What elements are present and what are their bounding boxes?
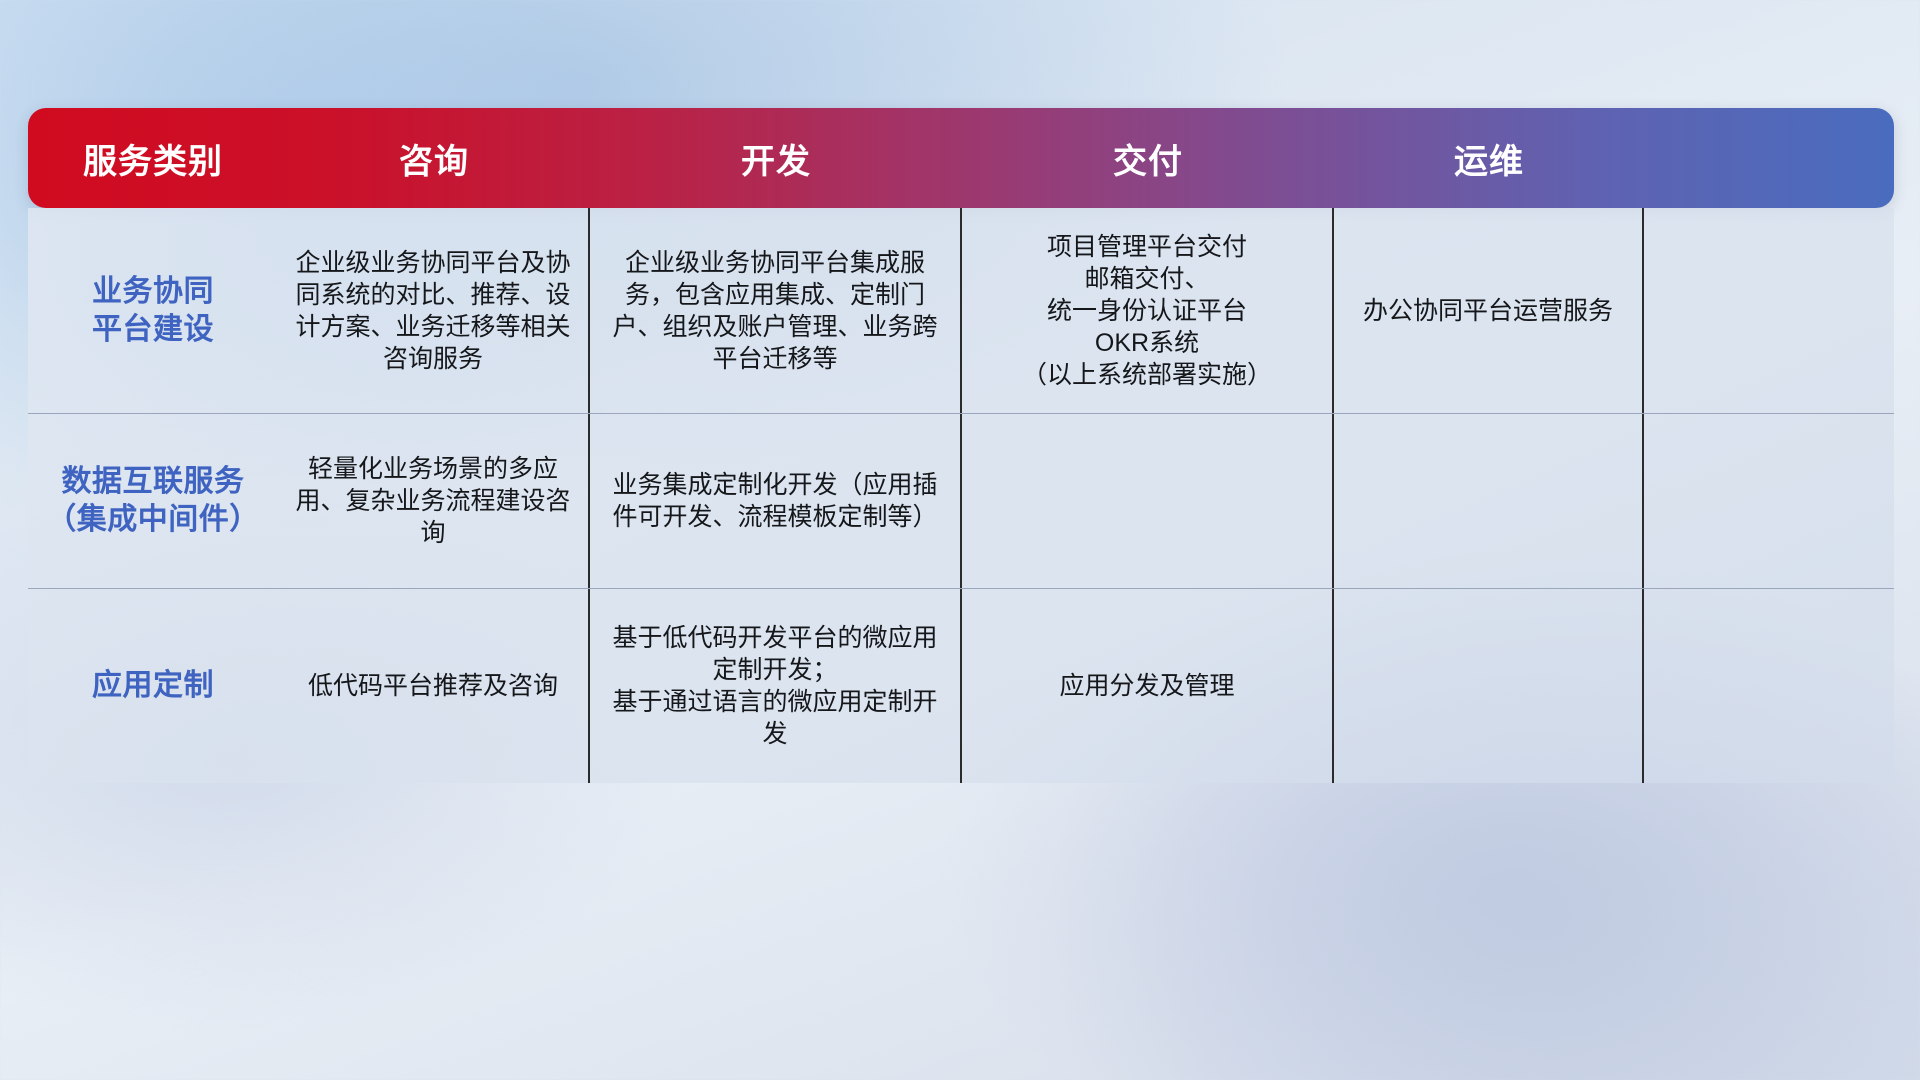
cell-consulting: 轻量化业务场景的多应用、复杂业务流程建设咨询 xyxy=(278,414,590,588)
row-category-line: 业务协同 xyxy=(92,273,214,311)
cell-development-line: 基于通过语言的微应用定制开发 xyxy=(604,686,946,750)
cell-delivery-line: OKR系统 xyxy=(1022,327,1272,359)
cell-development: 基于低代码开发平台的微应用定制开发； 基于通过语言的微应用定制开发 xyxy=(590,589,962,783)
cell-trailing xyxy=(1644,414,1894,588)
column-header-category: 服务类别 xyxy=(28,108,278,208)
table-row: 数据互联服务 （集成中间件） 轻量化业务场景的多应用、复杂业务流程建设咨询 业务… xyxy=(28,413,1894,588)
table-body: 业务协同 平台建设 企业级业务协同平台及协同系统的对比、推荐、设计方案、业务迁移… xyxy=(28,208,1894,783)
column-header-consulting: 咨询 xyxy=(278,108,590,208)
cell-delivery-line: 项目管理平台交付 xyxy=(1022,231,1272,263)
cell-trailing xyxy=(1644,589,1894,783)
row-category-line: 数据互联服务 xyxy=(46,463,260,501)
cell-development: 业务集成定制化开发（应用插件可开发、流程模板定制等） xyxy=(590,414,962,588)
row-category-line: 平台建设 xyxy=(92,311,214,349)
cell-development-line: 基于低代码开发平台的微应用定制开发； xyxy=(604,622,946,686)
cell-delivery-line: 统一身份认证平台 xyxy=(1022,295,1272,327)
table-row: 业务协同 平台建设 企业级业务协同平台及协同系统的对比、推荐、设计方案、业务迁移… xyxy=(28,208,1894,413)
service-matrix-table: 服务类别 咨询 开发 交付 运维 业务协同 平台建设 企业级业务协同平台及协同系… xyxy=(28,108,1894,783)
cell-delivery-line: 邮箱交付、 xyxy=(1022,263,1272,295)
cell-delivery: 项目管理平台交付 邮箱交付、 统一身份认证平台 OKR系统 （以上系统部署实施） xyxy=(962,208,1334,413)
cell-development: 企业级业务协同平台集成服务，包含应用集成、定制门户、组织及账户管理、业务跨平台迁… xyxy=(590,208,962,413)
column-header-delivery: 交付 xyxy=(962,108,1334,208)
row-category-line: 应用定制 xyxy=(92,667,214,705)
cell-delivery: 应用分发及管理 xyxy=(962,589,1334,783)
cell-delivery-line: （以上系统部署实施） xyxy=(1022,359,1272,391)
row-category-label: 应用定制 xyxy=(28,589,278,783)
cell-consulting: 低代码平台推荐及咨询 xyxy=(278,589,590,783)
cell-delivery xyxy=(962,414,1334,588)
row-category-line: （集成中间件） xyxy=(46,501,260,539)
cell-operations: 办公协同平台运营服务 xyxy=(1334,208,1644,413)
row-category-label: 数据互联服务 （集成中间件） xyxy=(28,414,278,588)
table-header-row: 服务类别 咨询 开发 交付 运维 xyxy=(28,108,1894,208)
table-row: 应用定制 低代码平台推荐及咨询 基于低代码开发平台的微应用定制开发； 基于通过语… xyxy=(28,588,1894,783)
cell-trailing xyxy=(1644,208,1894,413)
row-category-label: 业务协同 平台建设 xyxy=(28,208,278,413)
cell-operations xyxy=(1334,414,1644,588)
cell-consulting: 企业级业务协同平台及协同系统的对比、推荐、设计方案、业务迁移等相关咨询服务 xyxy=(278,208,590,413)
column-header-operations: 运维 xyxy=(1334,108,1644,208)
column-header-spacer xyxy=(1644,108,1894,208)
cell-operations xyxy=(1334,589,1644,783)
column-header-development: 开发 xyxy=(590,108,962,208)
